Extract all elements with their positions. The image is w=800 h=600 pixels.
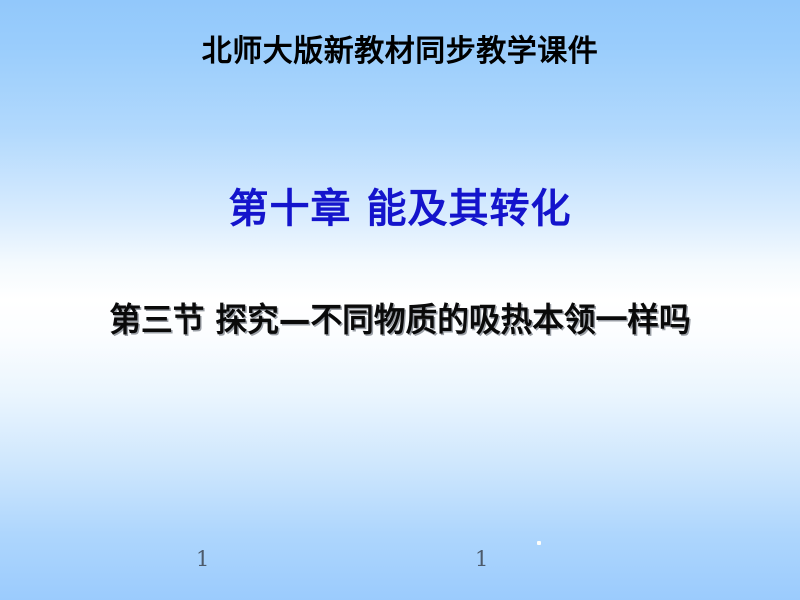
presentation-slide: 北师大版新教材同步教学课件 第十章 能及其转化 第三节 探究—不同物质的吸热本领… [0, 0, 800, 600]
chapter-title: 第十章 能及其转化 [0, 184, 800, 234]
page-number-left: 1 [196, 549, 209, 570]
section-subtitle: 第三节 探究—不同物质的吸热本领一样吗 [16, 298, 784, 342]
page-number-right: 1 [475, 549, 488, 570]
course-series-header: 北师大版新教材同步教学课件 [0, 32, 800, 72]
decorative-dot-icon [537, 541, 541, 545]
